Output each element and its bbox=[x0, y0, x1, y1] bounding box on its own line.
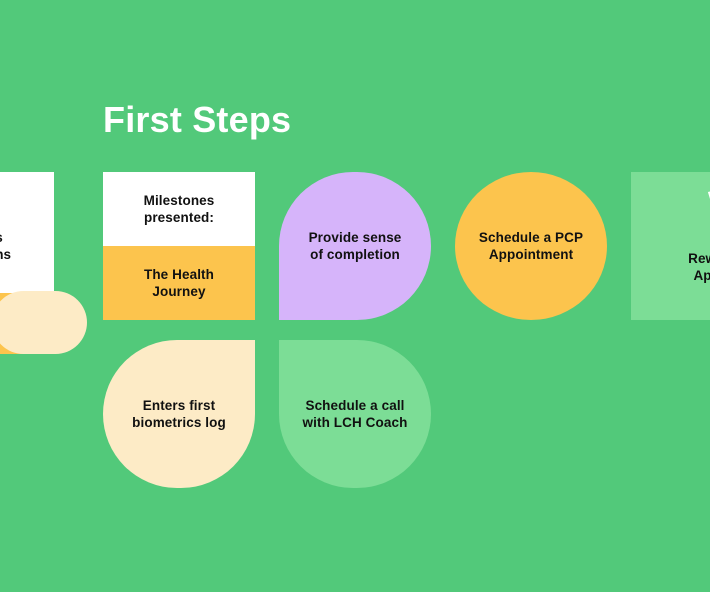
card-provide-sense-of-completion[interactable]: Provide sense of completion bbox=[279, 172, 431, 320]
blob-left-cream-clipped bbox=[0, 291, 87, 354]
card-pcp-label: Schedule a PCP Appointment bbox=[469, 229, 593, 263]
card-milestones-top-label: Milestones presented: bbox=[134, 192, 225, 226]
card-milestones-bottom-label: The Health Journey bbox=[134, 266, 224, 300]
card-schedule-call-lch-coach[interactable]: Schedule a call with LCH Coach bbox=[279, 340, 431, 488]
card-schedule-pcp-appointment[interactable]: Schedule a PCP Appointment bbox=[455, 172, 607, 320]
slide-canvas: First Steps s ons Milestones presented: … bbox=[0, 0, 710, 592]
card-reward-clipped[interactable]: Reward f Appoin bbox=[631, 172, 710, 320]
card-reward-label: Reward f Appoin bbox=[631, 250, 710, 284]
sunburst-rays-icon bbox=[631, 172, 710, 320]
card-left-white-label: s ons bbox=[0, 229, 54, 263]
card-provide-sense-label: Provide sense of completion bbox=[299, 229, 412, 263]
card-milestones-top: Milestones presented: bbox=[103, 172, 255, 246]
card-milestones[interactable]: Milestones presented: The Health Journey bbox=[103, 172, 255, 320]
card-milestones-bottom: The Health Journey bbox=[103, 246, 255, 320]
card-biometrics-label: Enters first biometrics log bbox=[122, 397, 236, 431]
page-title: First Steps bbox=[103, 99, 291, 141]
card-enters-first-biometrics-log[interactable]: Enters first biometrics log bbox=[103, 340, 255, 488]
card-lch-coach-label: Schedule a call with LCH Coach bbox=[293, 397, 418, 431]
